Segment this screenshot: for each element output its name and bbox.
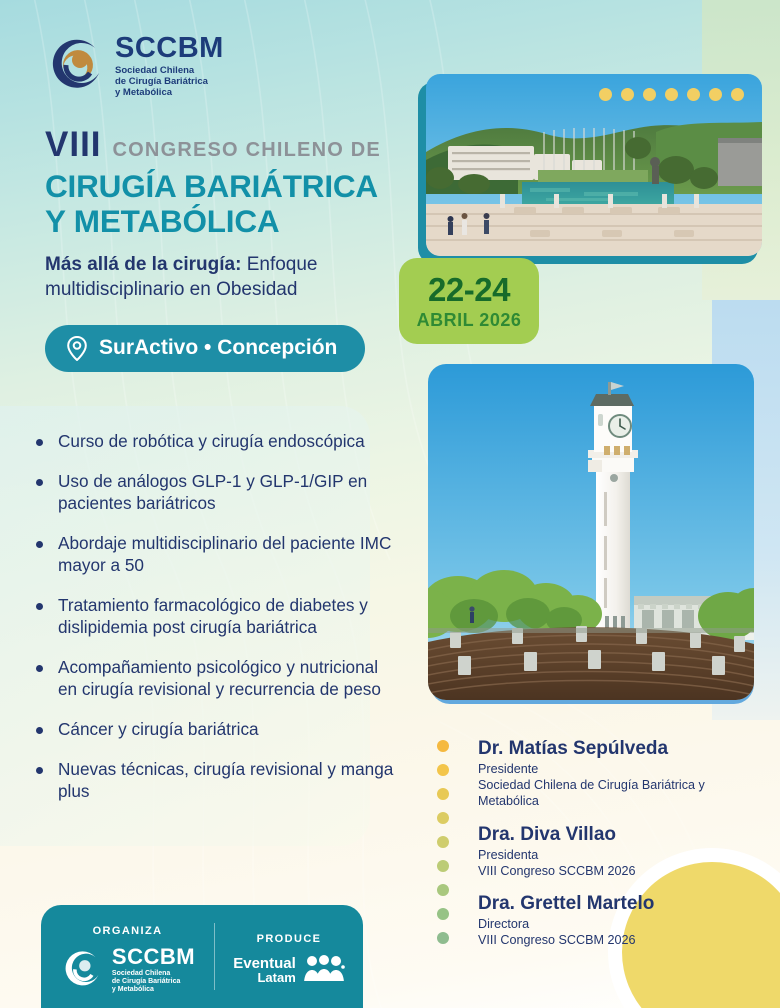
produce-label: PRODUCE [257,933,322,945]
sccbm-brand: SCCBM [115,34,224,63]
subtitle-rest: Enfoque [241,254,317,275]
subtitle-emphasis: Más allá de la cirugía: [45,254,241,275]
speaker-name: Dr. Matías Sepúlveda [478,738,748,759]
eventual-line-1: Eventual [233,956,296,971]
clock-tower-photo [428,364,754,700]
gradient-dot [437,812,449,824]
date-range: 22-24 [428,273,510,306]
list-item: Acompañamiento psicológico y nutricional… [36,656,396,700]
footer-sccbm-logo: SCCBM Sociedad Chilena de Cirugía Bariát… [60,946,195,995]
bullet-dot [36,665,43,672]
speaker-org: VIII Congreso SCCBM 2026 [478,932,748,948]
topic-text: Uso de análogos GLP-1 y GLP-1/GIP en pac… [58,470,396,514]
photo-dot [665,88,678,101]
gradient-dot [437,884,449,896]
speaker-name: Dra. Diva Villao [478,824,748,845]
footer-sccbm-wordmark: SCCBM Sociedad Chilena de Cirugía Bariát… [112,946,195,995]
photo-dot [621,88,634,101]
poster-root: SCCBM Sociedad Chilena de Cirugía Bariát… [0,0,780,1008]
topics-list: Curso de robótica y cirugía endoscópica … [36,430,396,820]
speaker-name: Dra. Grettel Martelo [478,893,748,914]
bullet-dot [36,541,43,548]
sccbm-mark-icon [60,948,104,992]
date-badge: 22-24 ABRIL 2026 [399,258,539,344]
photo-dot [687,88,700,101]
header: SCCBM Sociedad Chilena de Cirugía Bariát… [45,34,445,372]
venue-badge[interactable]: SurActivo • Concepción [45,325,365,372]
speaker-card: Dra. Diva Villao Presidenta VIII Congres… [478,824,748,879]
speaker-role: Presidente [478,761,748,777]
list-item: Tratamiento farmacológico de diabetes y … [36,594,396,638]
photo-dot [731,88,744,101]
list-item: Curso de robótica y cirugía endoscópica [36,430,396,452]
topic-text: Nuevas técnicas, cirugía revisional y ma… [58,758,396,802]
gradient-dot [437,764,449,776]
photo-dot [599,88,612,101]
footer-sccbm-brand: SCCBM [112,946,195,968]
eventual-line-2: Latam [233,971,296,984]
campus-plaza-photo [426,74,762,256]
people-group-icon [303,954,345,986]
eventual-wordmark: Eventual Latam [233,956,296,985]
organiza-label: ORGANIZA [93,925,163,937]
gradient-dot [437,860,449,872]
topic-text: Cáncer y cirugía bariátrica [58,718,259,740]
eventual-latam-logo: Eventual Latam [233,954,345,986]
title-line-1: CIRUGÍA BARIÁTRICA [45,169,445,204]
bullet-dot [36,767,43,774]
bullet-dot [36,479,43,486]
organizer-block: ORGANIZA SCCBM Sociedad Chilena de Cirug… [41,905,214,1008]
gradient-dot [437,932,449,944]
gradient-dot [437,740,449,752]
bullet-dot [36,439,43,446]
photo-dot-row [599,88,744,101]
speaker-org: Sociedad Chilena de Cirugía Bariátrica y… [478,777,748,809]
subtitle-line-2: multidisciplinario en Obesidad [45,279,297,300]
title-line-2: Y METABÓLICA [45,204,445,239]
sccbm-subtitle: Sociedad Chilena de Cirugía Bariátrica y… [115,65,224,99]
congress-eyebrow: CONGRESO CHILENO DE [113,140,381,160]
bullet-dot [36,727,43,734]
gradient-dot [437,908,449,920]
page-title: CIRUGÍA BARIÁTRICA Y METABÓLICA [45,169,445,240]
list-item: Abordaje multidisciplinario del paciente… [36,532,396,576]
photo-dot [709,88,722,101]
sccbm-logo: SCCBM Sociedad Chilena de Cirugía Bariát… [45,34,445,99]
topic-text: Abordaje multidisciplinario del paciente… [58,532,396,576]
map-pin-icon [67,336,87,361]
date-month-year: ABRIL 2026 [417,311,522,329]
subtitle: Más allá de la cirugía: Enfoque multidis… [45,253,445,302]
gradient-dot [437,788,449,800]
venue-label: SurActivo • Concepción [99,336,337,360]
speaker-card: Dra. Grettel Martelo Directora VIII Cong… [478,893,748,948]
gradient-dot [437,836,449,848]
edition-number: VIII [45,127,102,162]
title-eyebrow-row: VIII CONGRESO CHILENO DE [45,127,445,162]
footer: ORGANIZA SCCBM Sociedad Chilena de Cirug… [41,905,363,1008]
sccbm-wordmark: SCCBM Sociedad Chilena de Cirugía Bariát… [115,34,224,99]
speaker-dot-column [437,740,449,944]
producer-block: PRODUCE Eventual Latam [215,905,363,1008]
topic-text: Acompañamiento psicológico y nutricional… [58,656,396,700]
list-item: Nuevas técnicas, cirugía revisional y ma… [36,758,396,802]
footer-sccbm-subtitle: Sociedad Chilena de Cirugía Bariátrica y… [112,970,195,995]
speaker-org: VIII Congreso SCCBM 2026 [478,863,748,879]
photo-dot [643,88,656,101]
topic-text: Tratamiento farmacológico de diabetes y … [58,594,396,638]
sccbm-mark-icon [45,35,107,97]
topic-text: Curso de robótica y cirugía endoscópica [58,430,365,452]
bullet-dot [36,603,43,610]
speaker-role: Presidenta [478,847,748,863]
list-item: Cáncer y cirugía bariátrica [36,718,396,740]
list-item: Uso de análogos GLP-1 y GLP-1/GIP en pac… [36,470,396,514]
speaker-card: Dr. Matías Sepúlveda Presidente Sociedad… [478,738,748,810]
speaker-role: Directora [478,916,748,932]
speakers-list: Dr. Matías Sepúlveda Presidente Sociedad… [478,738,748,963]
